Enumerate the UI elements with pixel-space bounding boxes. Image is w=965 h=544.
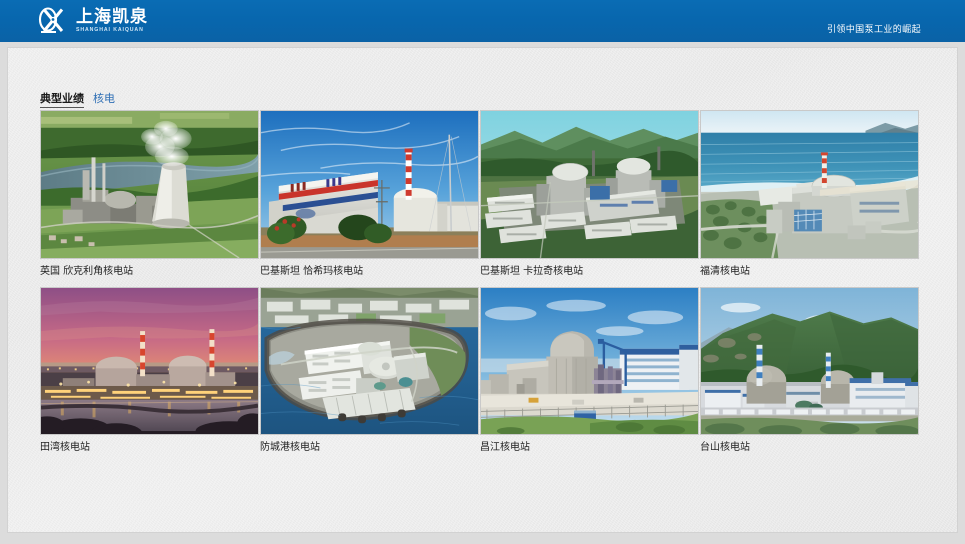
gallery-item-fangchenggang[interactable]: 防城港核电站 bbox=[260, 287, 480, 454]
photo-frame[interactable] bbox=[700, 110, 919, 259]
photo-tianwan bbox=[41, 288, 258, 434]
brand-name-cn: 上海凯泉 bbox=[76, 9, 148, 26]
gallery-caption: 巴基斯坦 恰希玛核电站 bbox=[260, 266, 480, 278]
photo-fuqing bbox=[701, 111, 918, 258]
gallery-caption: 台山核电站 bbox=[700, 442, 920, 454]
gallery-grid: 英国 欣克利角核电站 bbox=[40, 110, 930, 454]
photo-taishan bbox=[701, 288, 918, 434]
section-heading: 典型业绩 核电 bbox=[40, 90, 115, 108]
photo-changjiang bbox=[481, 288, 698, 434]
gallery-caption: 英国 欣克利角核电站 bbox=[40, 266, 260, 278]
photo-frame[interactable] bbox=[40, 287, 259, 435]
brand-name-en: SHANGHAI KAIQUAN bbox=[76, 28, 148, 33]
gallery-caption: 昌江核电站 bbox=[480, 442, 700, 454]
photo-hinkley-point bbox=[41, 111, 258, 258]
gallery-caption: 防城港核电站 bbox=[260, 442, 480, 454]
photo-frame[interactable] bbox=[260, 110, 479, 259]
gallery-item-fuqing[interactable]: 福清核电站 bbox=[700, 110, 920, 278]
photo-karachi bbox=[481, 111, 698, 258]
gallery-caption: 福清核电站 bbox=[700, 266, 920, 278]
site-header: 上海凯泉 SHANGHAI KAIQUAN 引领中国泵工业的崛起 bbox=[0, 0, 965, 42]
gallery-item-tianwan[interactable]: 田湾核电站 bbox=[40, 287, 260, 454]
brand-logo[interactable]: 上海凯泉 SHANGHAI KAIQUAN bbox=[36, 6, 148, 36]
section-title: 典型业绩 bbox=[40, 90, 84, 108]
section-subtitle[interactable]: 核电 bbox=[93, 90, 115, 106]
gallery-caption: 巴基斯坦 卡拉奇核电站 bbox=[480, 266, 700, 278]
gallery-caption: 田湾核电站 bbox=[40, 442, 260, 454]
photo-frame[interactable] bbox=[40, 110, 259, 259]
photo-frame[interactable] bbox=[480, 110, 699, 259]
page-sheet: 典型业绩 核电 bbox=[8, 48, 957, 532]
photo-frame[interactable] bbox=[260, 287, 479, 435]
header-slogan: 引领中国泵工业的崛起 bbox=[827, 22, 921, 35]
gallery-item-hinkley-point[interactable]: 英国 欣克利角核电站 bbox=[40, 110, 260, 278]
gallery-item-changjiang[interactable]: 昌江核电站 bbox=[480, 287, 700, 454]
photo-frame[interactable] bbox=[700, 287, 919, 435]
photo-frame[interactable] bbox=[480, 287, 699, 435]
gallery-item-karachi[interactable]: 巴基斯坦 卡拉奇核电站 bbox=[480, 110, 700, 278]
kaiquan-logo-icon bbox=[36, 6, 70, 36]
photo-fangchenggang bbox=[261, 288, 478, 434]
gallery-item-chashma[interactable]: 巴基斯坦 恰希玛核电站 bbox=[260, 110, 480, 278]
photo-chashma bbox=[261, 111, 478, 258]
gallery-item-taishan[interactable]: 台山核电站 bbox=[700, 287, 920, 454]
